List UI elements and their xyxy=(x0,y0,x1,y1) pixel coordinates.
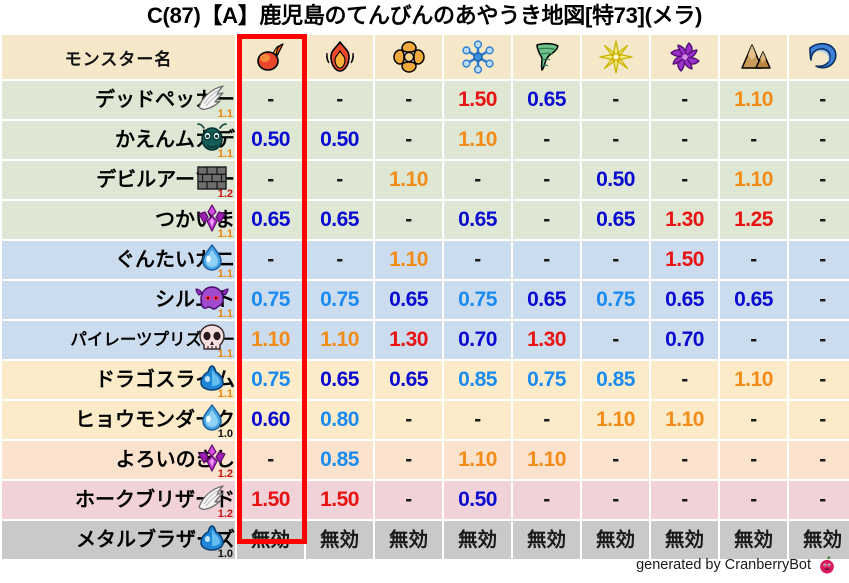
column-header-monster-name: モンスター名 xyxy=(2,35,235,79)
monster-multiplier-label: 1.1 xyxy=(218,309,233,320)
resistance-value: 0.85 xyxy=(458,368,497,391)
resistance-cell-dein[interactable]: 0.85 xyxy=(582,361,649,399)
resistance-cell-io[interactable]: - xyxy=(375,441,442,479)
resistance-value: 無効 xyxy=(527,529,566,551)
resistance-cell-mera[interactable]: - xyxy=(237,161,304,199)
resistance-cell-mera[interactable]: 0.50 xyxy=(237,121,304,159)
resistance-value: 0.65 xyxy=(596,208,635,231)
resistance-cell-gira[interactable]: 0.50 xyxy=(306,121,373,159)
resistance-value: - xyxy=(819,168,826,191)
resistance-value: 無効 xyxy=(803,529,842,551)
resistance-value: 無効 xyxy=(665,529,704,551)
resistance-value: 無効 xyxy=(251,529,290,551)
resistance-value: 0.75 xyxy=(251,288,290,311)
column-header-mera[interactable] xyxy=(237,35,304,79)
table-row: パイレーツプリズナー1.11.101.101.300.701.30-0.70-- xyxy=(2,321,849,359)
resistance-value: - xyxy=(336,168,343,191)
resistance-cell-water[interactable]: - xyxy=(789,321,849,359)
resistance-value: 0.75 xyxy=(251,368,290,391)
resistance-cell-dein[interactable]: 無効 xyxy=(582,521,649,559)
resistance-cell-hyado[interactable]: 0.85 xyxy=(444,361,511,399)
table-header-row: モンスター名 xyxy=(2,35,849,79)
column-header-doruma[interactable] xyxy=(651,35,718,79)
resistance-cell-io[interactable]: - xyxy=(375,401,442,439)
earth-mountain-icon xyxy=(736,39,772,75)
resistance-value: 0.65 xyxy=(389,368,428,391)
resistance-cell-dein[interactable]: - xyxy=(582,321,649,359)
resistance-value: 0.85 xyxy=(320,448,359,471)
table-row: ヒョウモンダーク1.00.600.80---1.101.10-- xyxy=(2,401,849,439)
column-header-hyado[interactable] xyxy=(444,35,511,79)
resistance-table-page: C(87)【A】鹿児島のてんびんのあやうき地図[特73](メラ) モンスター名 … xyxy=(0,0,849,583)
table-head: モンスター名 xyxy=(2,35,849,79)
resistance-cell-dein[interactable]: 1.10 xyxy=(582,401,649,439)
resistance-cell-mera[interactable]: - xyxy=(237,441,304,479)
resistance-cell-bagi[interactable]: - xyxy=(513,481,580,519)
resistance-value: 無効 xyxy=(389,529,428,551)
resistance-cell-mera[interactable]: - xyxy=(237,241,304,279)
resistance-cell-io[interactable]: 1.10 xyxy=(375,161,442,199)
resistance-cell-dein[interactable]: - xyxy=(582,121,649,159)
explosion-icon xyxy=(391,39,427,75)
resistance-cell-io[interactable]: - xyxy=(375,201,442,239)
resistance-value: - xyxy=(612,128,619,151)
resistance-cell-hyado[interactable]: - xyxy=(444,161,511,199)
resistance-cell-gira[interactable]: 0.65 xyxy=(306,361,373,399)
resistance-value: - xyxy=(819,208,826,231)
monster-name-cell[interactable]: デビルアーマー1.2 xyxy=(2,161,235,199)
resistance-cell-io[interactable]: - xyxy=(375,81,442,119)
resistance-cell-gira[interactable]: 0.75 xyxy=(306,281,373,319)
monster-name-cell[interactable]: パイレーツプリズナー1.1 xyxy=(2,321,235,359)
cranberry-icon xyxy=(817,555,837,575)
resistance-value: 0.65 xyxy=(251,208,290,231)
resistance-value: - xyxy=(819,448,826,471)
monster-multiplier-label: 1.1 xyxy=(218,149,233,160)
resistance-cell-doruma[interactable]: - xyxy=(651,121,718,159)
monster-multiplier-label: 1.0 xyxy=(218,429,233,440)
monster-multiplier-label: 1.2 xyxy=(218,509,233,520)
monster-name-cell[interactable]: メタルブラザーズ1.0 xyxy=(2,521,235,559)
resistance-cell-water[interactable]: - xyxy=(789,201,849,239)
resistance-cell-gira[interactable]: 0.65 xyxy=(306,201,373,239)
resistance-value: - xyxy=(405,448,412,471)
resistance-value: - xyxy=(819,128,826,151)
resistance-value: 0.75 xyxy=(320,288,359,311)
dark-vortex-icon xyxy=(667,39,703,75)
resistance-value: - xyxy=(681,368,688,391)
resistance-value: - xyxy=(405,408,412,431)
table-row: シルエト1.10.750.750.650.750.650.750.650.65- xyxy=(2,281,849,319)
monster-name-cell[interactable]: よろいのきし1.2 xyxy=(2,441,235,479)
table-row: メタルブラザーズ1.0無効無効無効無効無効無効無効無効無効 xyxy=(2,521,849,559)
resistance-value: - xyxy=(405,488,412,511)
resistance-cell-water[interactable]: - xyxy=(789,401,849,439)
monster-multiplier-label: 1.1 xyxy=(218,349,233,360)
resistance-cell-jibaria[interactable]: 1.10 xyxy=(720,81,787,119)
resistance-value: 1.30 xyxy=(389,328,428,351)
tornado-icon xyxy=(529,39,565,75)
resistance-value: - xyxy=(681,168,688,191)
monster-multiplier-label: 1.1 xyxy=(218,389,233,400)
resistance-value: 1.30 xyxy=(665,208,704,231)
monster-name-cell[interactable]: デッドペッカー1.1 xyxy=(2,81,235,119)
resistance-cell-dein[interactable]: - xyxy=(582,241,649,279)
resistance-cell-bagi[interactable]: - xyxy=(513,401,580,439)
resistance-value: 0.75 xyxy=(458,288,497,311)
resistance-value: 0.50 xyxy=(251,128,290,151)
resistance-cell-water[interactable]: - xyxy=(789,361,849,399)
resistance-cell-bagi[interactable]: - xyxy=(513,201,580,239)
monster-multiplier-label: 1.1 xyxy=(218,229,233,240)
table-row: かえんムカデ1.10.500.50-1.10----- xyxy=(2,121,849,159)
resistance-value: - xyxy=(750,488,757,511)
resistance-cell-bagi[interactable]: 無効 xyxy=(513,521,580,559)
resistance-value: - xyxy=(681,448,688,471)
resistance-value: - xyxy=(819,248,826,271)
resistance-cell-mera[interactable]: 0.65 xyxy=(237,201,304,239)
resistance-cell-mera[interactable]: - xyxy=(237,81,304,119)
resistance-value: 1.10 xyxy=(458,128,497,151)
resistance-cell-mera[interactable]: 無効 xyxy=(237,521,304,559)
resistance-value: - xyxy=(543,248,550,271)
monster-multiplier-label: 1.2 xyxy=(218,469,233,480)
resistance-value: 0.50 xyxy=(320,128,359,151)
resistance-cell-hyado[interactable]: 0.75 xyxy=(444,281,511,319)
resistance-cell-hyado[interactable]: - xyxy=(444,241,511,279)
resistance-cell-mera[interactable]: 0.75 xyxy=(237,281,304,319)
resistance-cell-water[interactable]: - xyxy=(789,441,849,479)
resistance-cell-doruma[interactable]: 1.10 xyxy=(651,401,718,439)
resistance-value: - xyxy=(543,408,550,431)
resistance-value: 無効 xyxy=(320,529,359,551)
column-header-dein[interactable] xyxy=(582,35,649,79)
resistance-cell-jibaria[interactable]: 1.10 xyxy=(720,361,787,399)
resistance-cell-jibaria[interactable]: - xyxy=(720,441,787,479)
resistance-cell-dein[interactable]: - xyxy=(582,481,649,519)
resistance-value: - xyxy=(681,88,688,111)
table-row: ホークブリザード1.21.501.50-0.50----- xyxy=(2,481,849,519)
resistance-cell-bagi[interactable]: 1.30 xyxy=(513,321,580,359)
resistance-value: - xyxy=(819,368,826,391)
resistance-value: 0.65 xyxy=(389,288,428,311)
resistance-value: - xyxy=(750,128,757,151)
resistance-cell-bagi[interactable]: - xyxy=(513,161,580,199)
resistance-value: - xyxy=(612,328,619,351)
resistance-cell-io[interactable]: 無効 xyxy=(375,521,442,559)
resistance-cell-doruma[interactable]: - xyxy=(651,361,718,399)
resistance-value: 0.50 xyxy=(596,168,635,191)
resistance-value: - xyxy=(405,208,412,231)
resistance-value: 0.65 xyxy=(665,288,704,311)
resistance-cell-jibaria[interactable]: - xyxy=(720,401,787,439)
resistance-cell-mera[interactable]: 1.50 xyxy=(237,481,304,519)
resistance-value: 無効 xyxy=(458,529,497,551)
monster-name-cell[interactable]: シルエト1.1 xyxy=(2,281,235,319)
resistance-cell-doruma[interactable]: - xyxy=(651,161,718,199)
resistance-value: 0.70 xyxy=(665,328,704,351)
resistance-cell-doruma[interactable]: - xyxy=(651,481,718,519)
resistance-cell-bagi[interactable]: 0.65 xyxy=(513,281,580,319)
table-body: デッドペッカー1.1---1.500.65--1.10-かえんムカデ1.10.5… xyxy=(2,81,849,559)
resistance-cell-water[interactable]: - xyxy=(789,81,849,119)
resistance-cell-io[interactable]: 0.65 xyxy=(375,361,442,399)
resistance-cell-hyado[interactable]: 1.10 xyxy=(444,121,511,159)
resistance-value: - xyxy=(612,88,619,111)
table-row: つかいま1.10.650.65-0.65-0.651.301.25- xyxy=(2,201,849,239)
resistance-cell-water[interactable]: 無効 xyxy=(789,521,849,559)
resistance-value: 1.10 xyxy=(389,248,428,271)
resistance-cell-jibaria[interactable]: 1.25 xyxy=(720,201,787,239)
resistance-value: - xyxy=(681,488,688,511)
resistance-cell-dein[interactable]: 0.65 xyxy=(582,201,649,239)
resistance-value: 1.10 xyxy=(665,408,704,431)
resistance-cell-io[interactable]: - xyxy=(375,481,442,519)
resistance-value: - xyxy=(543,208,550,231)
resistance-cell-water[interactable]: - xyxy=(789,481,849,519)
resistance-value: 1.10 xyxy=(734,368,773,391)
resistance-value: - xyxy=(267,448,274,471)
resistance-cell-jibaria[interactable]: 1.10 xyxy=(720,161,787,199)
resistance-value: 1.10 xyxy=(734,88,773,111)
resistance-cell-bagi[interactable]: 0.65 xyxy=(513,81,580,119)
resistance-cell-bagi[interactable]: - xyxy=(513,241,580,279)
table-row: ドラゴスライム1.10.750.650.650.850.750.85-1.10- xyxy=(2,361,849,399)
resistance-value: 0.65 xyxy=(527,288,566,311)
resistance-cell-water[interactable]: - xyxy=(789,121,849,159)
resistance-value: - xyxy=(474,168,481,191)
monster-multiplier-label: 1.1 xyxy=(218,269,233,280)
resistance-cell-mera[interactable]: 0.75 xyxy=(237,361,304,399)
resistance-value: - xyxy=(543,128,550,151)
resistance-value: - xyxy=(336,248,343,271)
meteor-fire-icon xyxy=(253,39,289,75)
column-header-bagi[interactable] xyxy=(513,35,580,79)
resistance-cell-mera[interactable]: 1.10 xyxy=(237,321,304,359)
resistance-value: 1.10 xyxy=(527,448,566,471)
resistance-cell-water[interactable]: - xyxy=(789,281,849,319)
resistance-value: 1.25 xyxy=(734,208,773,231)
resistance-cell-jibaria[interactable]: 0.65 xyxy=(720,281,787,319)
monster-name-cell[interactable]: ドラゴスライム1.1 xyxy=(2,361,235,399)
resistance-cell-hyado[interactable]: 1.50 xyxy=(444,81,511,119)
resistance-cell-hyado[interactable]: 1.10 xyxy=(444,441,511,479)
table-row: デッドペッカー1.1---1.500.65--1.10- xyxy=(2,81,849,119)
resistance-cell-jibaria[interactable]: - xyxy=(720,121,787,159)
resistance-value: 1.10 xyxy=(251,328,290,351)
resistance-value: - xyxy=(267,248,274,271)
resistance-value: - xyxy=(612,448,619,471)
resistance-cell-water[interactable]: - xyxy=(789,241,849,279)
resistance-cell-io[interactable]: 1.30 xyxy=(375,321,442,359)
resistance-value: 1.10 xyxy=(596,408,635,431)
resistance-cell-jibaria[interactable]: - xyxy=(720,241,787,279)
resistance-cell-jibaria[interactable]: 無効 xyxy=(720,521,787,559)
resistance-cell-doruma[interactable]: 無効 xyxy=(651,521,718,559)
resistance-cell-gira[interactable]: - xyxy=(306,241,373,279)
table-row: デビルアーマー1.2--1.10--0.50-1.10- xyxy=(2,161,849,199)
flame-icon xyxy=(322,39,358,75)
resistance-value: - xyxy=(543,488,550,511)
resistance-value: - xyxy=(612,248,619,271)
resistance-cell-jibaria[interactable]: - xyxy=(720,321,787,359)
resistance-value: - xyxy=(819,328,826,351)
resistance-cell-gira[interactable]: 0.85 xyxy=(306,441,373,479)
resistance-value: - xyxy=(819,88,826,111)
resistance-value: 0.70 xyxy=(458,328,497,351)
water-wave-icon xyxy=(805,39,841,75)
table-row: ぐんたいガニ1.1--1.10---1.50-- xyxy=(2,241,849,279)
resistance-cell-dein[interactable]: 0.75 xyxy=(582,281,649,319)
resistance-cell-jibaria[interactable]: - xyxy=(720,481,787,519)
resistance-value: 1.30 xyxy=(527,328,566,351)
resistance-value: - xyxy=(819,408,826,431)
resistance-cell-gira[interactable]: 1.10 xyxy=(306,321,373,359)
resistance-value: - xyxy=(405,128,412,151)
resistance-value: 0.75 xyxy=(596,288,635,311)
resistance-cell-bagi[interactable]: - xyxy=(513,121,580,159)
monster-name-cell[interactable]: かえんムカデ1.1 xyxy=(2,121,235,159)
resistance-cell-dein[interactable]: - xyxy=(582,441,649,479)
light-star-icon xyxy=(598,39,634,75)
monster-name-cell[interactable]: ぐんたいガニ1.1 xyxy=(2,241,235,279)
resistance-value: - xyxy=(267,168,274,191)
footer-credit: generated by CranberryBot xyxy=(636,555,837,575)
resistance-value: - xyxy=(750,328,757,351)
monster-name-cell[interactable]: ホークブリザード1.2 xyxy=(2,481,235,519)
table-row: よろいのきし1.2-0.85-1.101.10---- xyxy=(2,441,849,479)
resistance-value: - xyxy=(474,248,481,271)
column-header-jibaria[interactable] xyxy=(720,35,787,79)
resistance-value: 1.50 xyxy=(320,488,359,511)
resistance-value: 0.65 xyxy=(320,368,359,391)
resistance-cell-mera[interactable]: 0.60 xyxy=(237,401,304,439)
resistance-value: - xyxy=(612,488,619,511)
footer-text: generated by CranberryBot xyxy=(636,557,811,573)
resistance-value: 1.10 xyxy=(389,168,428,191)
resistance-value: 0.85 xyxy=(596,368,635,391)
resistance-cell-hyado[interactable]: 無効 xyxy=(444,521,511,559)
resistance-cell-doruma[interactable]: 1.30 xyxy=(651,201,718,239)
resistance-cell-io[interactable]: - xyxy=(375,121,442,159)
resistance-cell-io[interactable]: 0.65 xyxy=(375,281,442,319)
resistance-cell-gira[interactable]: 無効 xyxy=(306,521,373,559)
column-header-io[interactable] xyxy=(375,35,442,79)
resistance-value: 0.75 xyxy=(527,368,566,391)
resistance-value: 0.60 xyxy=(251,408,290,431)
resistance-cell-hyado[interactable]: 0.65 xyxy=(444,201,511,239)
resistance-value: 0.65 xyxy=(458,208,497,231)
resistance-cell-hyado[interactable]: - xyxy=(444,401,511,439)
resistance-value: - xyxy=(750,408,757,431)
resistance-cell-doruma[interactable]: - xyxy=(651,81,718,119)
resistance-value: - xyxy=(681,128,688,151)
resistance-cell-hyado[interactable]: 0.50 xyxy=(444,481,511,519)
resistance-table: モンスター名 デッドペッカー1.1---1.500.65--1.10-かえんムカ… xyxy=(0,33,849,561)
resistance-cell-gira[interactable]: 0.80 xyxy=(306,401,373,439)
resistance-value: - xyxy=(543,168,550,191)
monster-multiplier-label: 1.1 xyxy=(218,109,233,120)
resistance-value: 1.10 xyxy=(320,328,359,351)
resistance-value: 1.50 xyxy=(251,488,290,511)
resistance-value: 0.80 xyxy=(320,408,359,431)
monster-name-cell[interactable]: つかいま1.1 xyxy=(2,201,235,239)
resistance-cell-gira[interactable]: 1.50 xyxy=(306,481,373,519)
resistance-value: - xyxy=(474,408,481,431)
monster-multiplier-label: 1.0 xyxy=(218,549,233,560)
resistance-cell-dein[interactable]: - xyxy=(582,81,649,119)
resistance-cell-doruma[interactable]: 0.70 xyxy=(651,321,718,359)
page-title: C(87)【A】鹿児島のてんびんのあやうき地図[特73](メラ) xyxy=(0,2,849,30)
resistance-value: - xyxy=(750,248,757,271)
resistance-value: - xyxy=(336,88,343,111)
resistance-cell-water[interactable]: - xyxy=(789,161,849,199)
resistance-cell-dein[interactable]: 0.50 xyxy=(582,161,649,199)
resistance-value: 0.65 xyxy=(320,208,359,231)
resistance-cell-bagi[interactable]: 0.75 xyxy=(513,361,580,399)
column-header-water[interactable] xyxy=(789,35,849,79)
resistance-value: - xyxy=(819,488,826,511)
resistance-cell-doruma[interactable]: - xyxy=(651,441,718,479)
resistance-cell-io[interactable]: 1.10 xyxy=(375,241,442,279)
resistance-cell-doruma[interactable]: 0.65 xyxy=(651,281,718,319)
column-header-gira[interactable] xyxy=(306,35,373,79)
monster-name-cell[interactable]: ヒョウモンダーク1.0 xyxy=(2,401,235,439)
resistance-table-container: モンスター名 デッドペッカー1.1---1.500.65--1.10-かえんムカ… xyxy=(0,33,849,561)
resistance-cell-gira[interactable]: - xyxy=(306,161,373,199)
resistance-value: 無効 xyxy=(734,529,773,551)
resistance-value: - xyxy=(405,88,412,111)
resistance-cell-gira[interactable]: - xyxy=(306,81,373,119)
resistance-value: - xyxy=(750,448,757,471)
monster-multiplier-label: 1.2 xyxy=(218,189,233,200)
resistance-value: 1.50 xyxy=(665,248,704,271)
resistance-value: 1.10 xyxy=(734,168,773,191)
resistance-value: 0.65 xyxy=(734,288,773,311)
resistance-cell-hyado[interactable]: 0.70 xyxy=(444,321,511,359)
resistance-cell-bagi[interactable]: 1.10 xyxy=(513,441,580,479)
resistance-value: 0.65 xyxy=(527,88,566,111)
resistance-value: - xyxy=(819,288,826,311)
snowflake-icon xyxy=(460,39,496,75)
resistance-cell-doruma[interactable]: 1.50 xyxy=(651,241,718,279)
resistance-value: 1.10 xyxy=(458,448,497,471)
resistance-value: 0.50 xyxy=(458,488,497,511)
resistance-value: - xyxy=(267,88,274,111)
resistance-value: 1.50 xyxy=(458,88,497,111)
resistance-value: 無効 xyxy=(596,529,635,551)
